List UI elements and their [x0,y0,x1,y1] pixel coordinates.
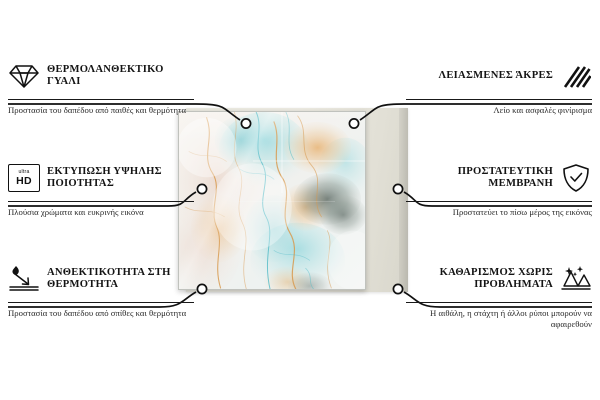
feature-header: ΘΕΡΜΟΛΑΝΘΕΚΤΙΚΟ ΓΥΑΛΙ [8,58,194,94]
feature-divider [406,201,592,202]
feature-description: Προστασία του δαπέδου από παιθές και θερ… [8,105,194,116]
feature-header: ΛΕΙΑΣΜΕΝΕΣ ΆΚΡΕΣ [406,58,592,94]
heat-resistance-icon [8,263,40,295]
feature-title: ΘΕΡΜΟΛΑΝΘΕΚΤΙΚΟ ΓΥΑΛΙ [47,64,194,89]
feature-divider [8,302,194,303]
feature-divider [8,99,194,100]
marble-pattern-art [179,112,365,289]
feature-easy-cleaning[interactable]: ΚΑΘΑΡΙΣΜΟΣ ΧΩΡΙΣ ΠΡΟΒΛΗΜΑΤΑ Η αιθάλη, η … [406,261,592,331]
feature-title: ΕΚΤΥΠΩΣΗ ΥΨΗΛΗΣ ΠΟΙΟΤΗΤΑΣ [47,166,194,191]
polished-edges-icon [560,60,592,92]
feature-description: Λείο και ασφαλές φινίρισμα [406,105,592,116]
feature-header: ΠΡΟΣΤΑΤΕΥΤΙΚΗ ΜΕΜΒΡΑΝΗ [406,160,592,196]
feature-title: ΚΑΘΑΡΙΣΜΟΣ ΧΩΡΙΣ ΠΡΟΒΛΗΜΑΤΑ [406,267,553,292]
infographic-stage: ΘΕΡΜΟΛΑΝΘΕΚΤΙΚΟ ΓΥΑΛΙ Προστασία του δαπέ… [0,0,600,400]
feature-protective-membrane[interactable]: ΠΡΟΣΤΑΤΕΥΤΙΚΗ ΜΕΜΒΡΑΝΗ Προστατεύει το πί… [406,160,592,218]
feature-description: Προστασία του δαπέδου από σπίθες και θερ… [8,308,194,319]
feature-title: ΑΝΘΕΚΤΙΚΟΤΗΤΑ ΣΤΗ ΘΕΡΜΟΤΗΤΑ [47,267,194,292]
feature-description: Προστατεύει το πίσω μέρος της εικόνας [406,207,592,218]
feature-description: Η αιθάλη, η στάχτη ή άλλοι ρύποι μπορούν… [406,308,592,331]
diamond-icon [8,60,40,92]
ultra-hd-icon: ultra HD [8,162,40,194]
easy-clean-sparkle-icon [560,263,592,295]
feature-heat-resistant-glass[interactable]: ΘΕΡΜΟΛΑΝΘΕΚΤΙΚΟ ΓΥΑΛΙ Προστασία του δαπέ… [8,58,194,116]
feature-polished-edges[interactable]: ΛΕΙΑΣΜΕΝΕΣ ΆΚΡΕΣ Λείο και ασφαλές φινίρι… [406,58,592,116]
feature-divider [406,99,592,100]
feature-divider [8,201,194,202]
feature-divider [406,302,592,303]
feature-header: ΚΑΘΑΡΙΣΜΟΣ ΧΩΡΙΣ ΠΡΟΒΛΗΜΑΤΑ [406,261,592,297]
ultra-hd-icon-bottom-text: HD [16,176,32,187]
feature-header: ultra HD ΕΚΤΥΠΩΣΗ ΥΨΗΛΗΣ ΠΟΙΟΤΗΤΑΣ [8,160,194,196]
feature-title: ΠΡΟΣΤΑΤΕΥΤΙΚΗ ΜΕΜΒΡΑΝΗ [406,166,553,191]
feature-heat-durability[interactable]: ΑΝΘΕΚΤΙΚΟΤΗΤΑ ΣΤΗ ΘΕΡΜΟΤΗΤΑ Προστασία το… [8,261,194,319]
feature-high-quality-print[interactable]: ultra HD ΕΚΤΥΠΩΣΗ ΥΨΗΛΗΣ ΠΟΙΟΤΗΤΑΣ Πλούσ… [8,160,194,218]
product-image [178,108,406,292]
product-glass-panel [178,111,366,290]
feature-title: ΛΕΙΑΣΜΕΝΕΣ ΆΚΡΕΣ [439,70,553,82]
shield-check-icon [560,162,592,194]
feature-header: ΑΝΘΕΚΤΙΚΟΤΗΤΑ ΣΤΗ ΘΕΡΜΟΤΗΤΑ [8,261,194,297]
feature-description: Πλούσια χρώματα και ευκρινής εικόνα [8,207,194,218]
